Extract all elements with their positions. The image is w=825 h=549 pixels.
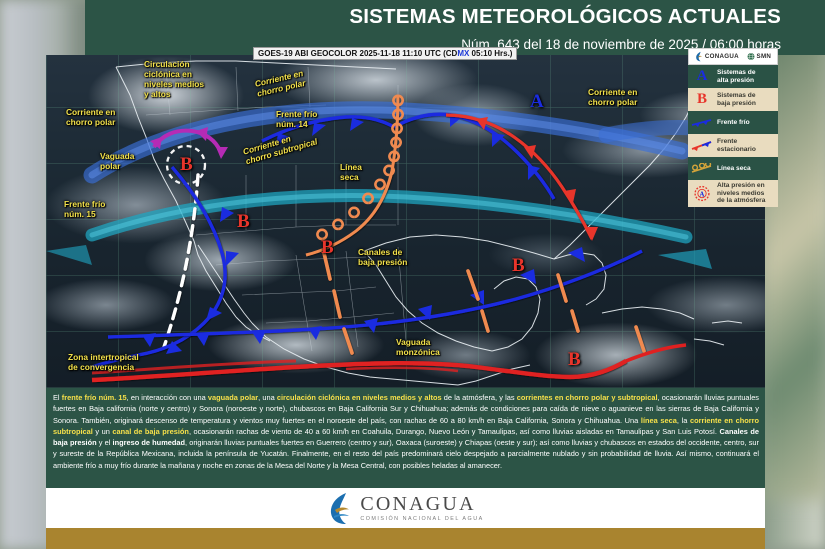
conagua-wave-icon: [695, 51, 703, 62]
header-bar: SISTEMAS METEOROLÓGICOS ACTUALES: [85, 0, 825, 33]
legend-item-dry-line[interactable]: Línea seca: [688, 157, 778, 180]
forecast-segment-6: de la atmósfera, y las: [442, 393, 517, 402]
legend-item-cold-front[interactable]: Frente frío: [688, 111, 778, 134]
legend-item-low-pressure[interactable]: B Sistemas de baja presión: [688, 88, 778, 111]
smn-logo-text: SMN: [757, 53, 772, 60]
conagua-logo-text: CONAGUA: [705, 53, 739, 60]
footer-brand-subtitle: COMISIÓN NACIONAL DEL AGUA: [360, 516, 483, 522]
synoptic-overlay: [46, 55, 765, 388]
forecast-segment-10: , la: [677, 416, 690, 425]
timestamp-prefix: GOES-19 ABI GEOCOLOR 2025-11-18 11:10 UT…: [258, 49, 457, 58]
low-pressure-marker-4: B: [512, 255, 525, 277]
forecast-segment-0: El: [53, 393, 62, 402]
legend-label-dry-line: Línea seca: [717, 165, 751, 173]
legend-label-mid-level-high: Alta presión en niveles medios de la atm…: [717, 182, 765, 205]
forecast-segment-5: circulación ciclónica en niveles medios …: [277, 393, 442, 402]
cold-front-icon: [691, 115, 713, 131]
low-pressure-marker-5: B: [568, 349, 581, 371]
letter-b-icon: B: [691, 92, 713, 108]
svg-text:A: A: [700, 191, 705, 198]
conagua-footer-logo: CONAGUA COMISIÓN NACIONAL DEL AGUA: [327, 491, 483, 525]
legend-label-cold-front: Frente frío: [717, 119, 750, 127]
gold-accent-bar: [46, 528, 765, 549]
timestamp-suffix: 05:10 Hrs.): [469, 49, 512, 58]
low-pressure-marker-3: B: [321, 237, 334, 259]
forecast-segment-16: y el: [97, 438, 113, 447]
forecast-segment-1: frente frío núm. 15: [62, 393, 127, 402]
forecast-segment-3: vaguada polar: [208, 393, 258, 402]
legend-item-stationary-front[interactable]: Frente estacionario: [688, 134, 778, 157]
forecast-segment-4: , una: [258, 393, 277, 402]
smn-globe-icon: [747, 51, 755, 62]
letter-a-icon: A: [691, 69, 713, 85]
conagua-wave-logo-icon: [327, 491, 353, 525]
legend-logos: CONAGUA SMN: [688, 48, 778, 65]
legend-label-high-pressure: Sistemas de alta presión: [717, 69, 755, 84]
legend-item-mid-level-high[interactable]: A Alta presión en niveles medios de la a…: [688, 180, 778, 207]
forecast-segment-2: , en interacción con una: [127, 393, 208, 402]
forecast-segment-17: ingreso de humedad: [113, 438, 185, 447]
mid-level-high-icon: A: [691, 185, 713, 201]
forecast-segment-13: canal de baja presión: [112, 427, 189, 436]
forecast-segment-9: línea seca: [641, 416, 677, 425]
forecast-text: El frente frío núm. 15, en interacción c…: [46, 388, 765, 488]
satellite-timestamp: GOES-19 ABI GEOCOLOR 2025-11-18 11:10 UT…: [253, 47, 517, 60]
satellite-map[interactable]: B B B B B A Circulación ciclónica en niv…: [46, 55, 765, 388]
stationary-front-icon: [691, 138, 713, 154]
low-pressure-marker-1: B: [180, 154, 193, 176]
legend-panel: CONAGUA SMN A Sistemas de alta presión B…: [688, 48, 778, 207]
low-pressure-marker-2: B: [237, 211, 250, 233]
dry-line-icon: [691, 161, 713, 177]
forecast-segment-14: , ocasionarán rachas de viento de 40 a 6…: [189, 427, 720, 436]
legend-item-high-pressure[interactable]: A Sistemas de alta presión: [688, 65, 778, 88]
conagua-logo: CONAGUA: [695, 51, 739, 62]
high-pressure-marker-1: A: [530, 91, 544, 113]
page-title: SISTEMAS METEOROLÓGICOS ACTUALES: [349, 5, 781, 29]
legend-label-stationary-front: Frente estacionario: [717, 138, 756, 153]
legend-label-low-pressure: Sistemas de baja presión: [717, 92, 756, 107]
forecast-segment-7: corrientes en chorro polar y subtropical: [517, 393, 658, 402]
smn-logo: SMN: [747, 51, 772, 62]
forecast-segment-12: y un: [93, 427, 113, 436]
footer-bar: CONAGUA COMISIÓN NACIONAL DEL AGUA: [46, 488, 765, 528]
timestamp-mx: MX: [457, 49, 469, 58]
footer-brand-name: CONAGUA: [360, 494, 483, 514]
